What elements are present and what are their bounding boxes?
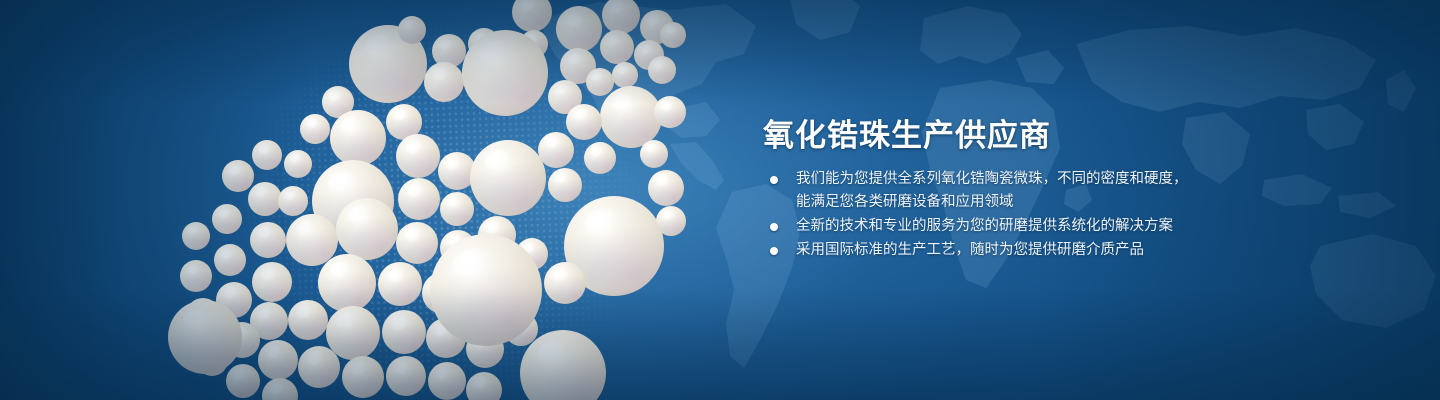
list-item-line-1: 全新的技术和专业的服务为您的研磨提供系统化的解决方案 bbox=[796, 218, 1173, 234]
list-item-line-1: 我们能为您提供全系列氧化锆陶瓷微珠，不同的密度和硬度， bbox=[796, 171, 1188, 187]
feature-list: 我们能为您提供全系列氧化锆陶瓷微珠，不同的密度和硬度， 能满足您各类研磨设备和应… bbox=[768, 168, 1188, 262]
list-item: 全新的技术和专业的服务为您的研磨提供系统化的解决方案 bbox=[768, 215, 1188, 238]
hero-banner: 氧化锆珠生产供应商 我们能为您提供全系列氧化锆陶瓷微珠，不同的密度和硬度， 能满… bbox=[0, 0, 1440, 400]
list-item: 采用国际标准的生产工艺，随时为您提供研磨介质产品 bbox=[768, 239, 1188, 262]
bullet-dot-icon bbox=[770, 176, 778, 184]
bullet-dot-icon bbox=[770, 247, 778, 255]
list-item-line-1: 采用国际标准的生产工艺，随时为您提供研磨介质产品 bbox=[796, 242, 1144, 258]
bullet-dot-icon bbox=[770, 223, 778, 231]
page-title: 氧化锆珠生产供应商 bbox=[763, 110, 1051, 155]
list-item-line-2: 能满足您各类研磨设备和应用领域 bbox=[796, 191, 1188, 214]
list-item: 我们能为您提供全系列氧化锆陶瓷微珠，不同的密度和硬度， 能满足您各类研磨设备和应… bbox=[768, 168, 1188, 214]
banner-content: 氧化锆珠生产供应商 我们能为您提供全系列氧化锆陶瓷微珠，不同的密度和硬度， 能满… bbox=[763, 0, 1363, 400]
